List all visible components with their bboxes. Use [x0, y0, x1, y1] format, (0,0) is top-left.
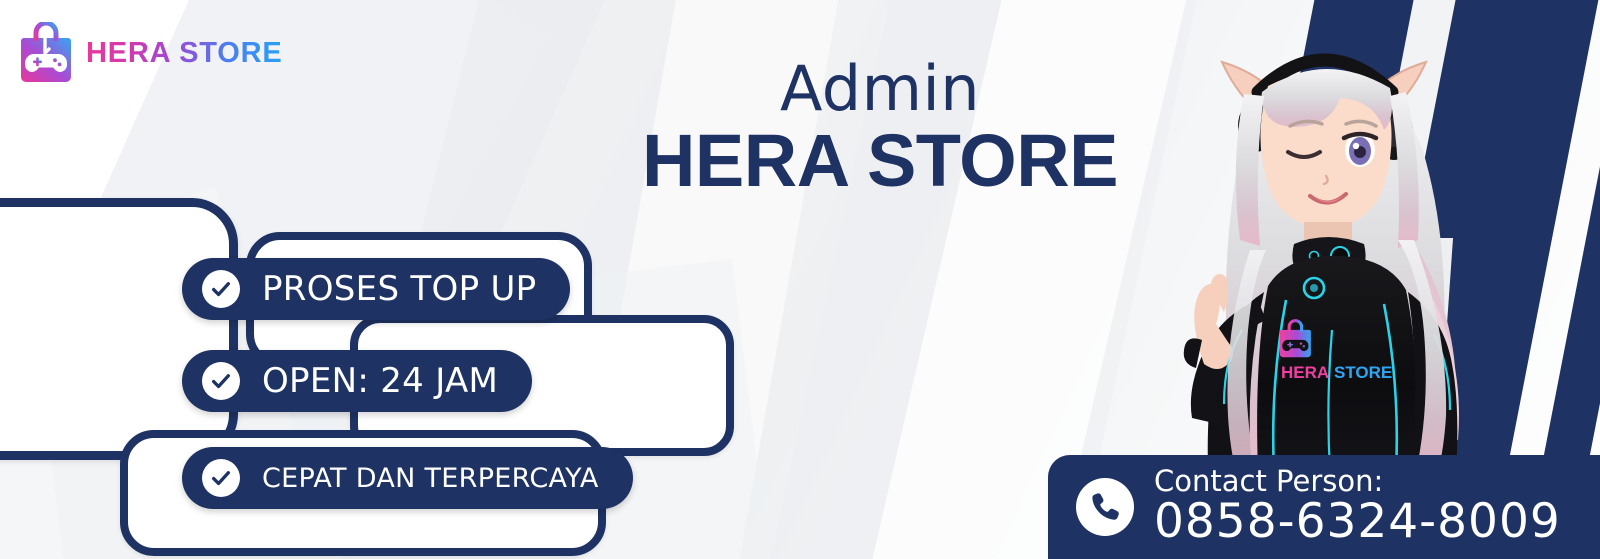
- phone-icon: [1076, 478, 1134, 536]
- feature-badge-label: OPEN: 24 JAM: [262, 361, 498, 401]
- svg-text:STORE: STORE: [1334, 363, 1392, 382]
- left-decorative-panel: [0, 198, 238, 460]
- feature-badge-label: CEPAT DAN TERPERCAYA: [262, 463, 599, 494]
- promo-banner: HERA STORE Admin HERA STORE PROSES TOP U…: [0, 0, 1600, 559]
- feature-badge[interactable]: OPEN: 24 JAM: [182, 350, 532, 412]
- brand-logo[interactable]: HERA STORE: [18, 22, 283, 84]
- headline-admin: Admin: [600, 58, 1160, 120]
- headline-block: Admin HERA STORE: [600, 58, 1160, 200]
- feature-badge[interactable]: PROSES TOP UP: [182, 258, 570, 320]
- check-circle-icon: [202, 459, 240, 497]
- brand-logo-text: HERA STORE: [86, 37, 283, 70]
- headline-brand: HERA STORE: [600, 122, 1160, 200]
- feature-badge-label: PROSES TOP UP: [262, 269, 536, 309]
- contact-bar[interactable]: Contact Person: 0858-6324-8009: [1048, 455, 1600, 559]
- elf-girl-mascot-icon: HERA STORE: [1118, 0, 1538, 500]
- check-circle-icon: [202, 362, 240, 400]
- feature-badge[interactable]: CEPAT DAN TERPERCAYA: [182, 447, 633, 509]
- svg-text:HERA: HERA: [1281, 363, 1329, 382]
- mascot-illustration: HERA STORE: [1118, 0, 1538, 500]
- contact-label: Contact Person:: [1154, 466, 1561, 496]
- contact-number[interactable]: 0858-6324-8009: [1154, 497, 1561, 548]
- contact-text: Contact Person: 0858-6324-8009: [1154, 466, 1561, 547]
- shopping-bag-gamepad-icon: [18, 22, 74, 84]
- check-circle-icon: [202, 270, 240, 308]
